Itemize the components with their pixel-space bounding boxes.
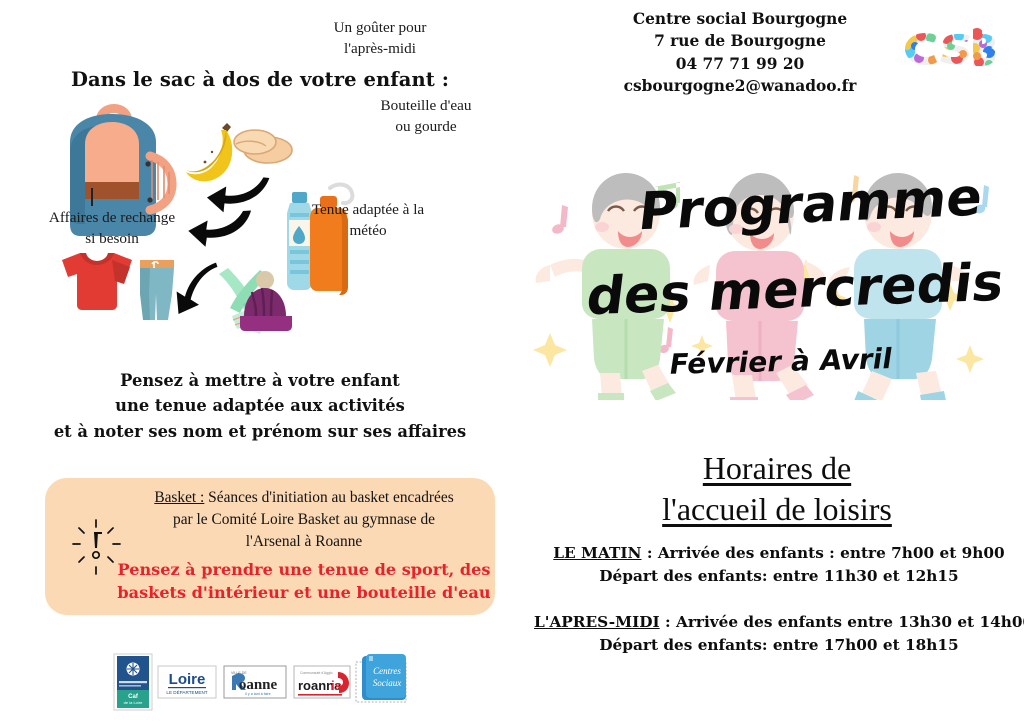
caption-snack: Un goûter pour l'après-midi xyxy=(300,18,460,59)
spare-clothes-icon xyxy=(62,253,174,320)
title-subtitle: Février à Avril xyxy=(667,342,895,381)
svg-text:oanne: oanne xyxy=(239,677,278,693)
svg-text:LE DÉPARTEMENT: LE DÉPARTEMENT xyxy=(166,689,207,695)
schedule-morning: LE MATIN : Arrivée des enfants : entre 7… xyxy=(534,542,1024,589)
contact-phone: 04 77 71 99 20 xyxy=(550,53,930,75)
logo-centres-sociaux: Centres Sociaux xyxy=(358,652,410,708)
svg-text:de la Loire: de la Loire xyxy=(124,700,143,705)
contact-block: Centre social Bourgogne 7 rue de Bourgog… xyxy=(550,8,930,97)
svg-text:Loire: Loire xyxy=(169,671,206,688)
basket-warning-text: Pensez à prendre une tenue de sport, des… xyxy=(111,558,497,605)
title-block: Programme des mercredis Février à Avril xyxy=(530,165,1024,400)
contact-address: 7 rue de Bourgogne xyxy=(550,30,930,52)
logo-roanne: VILLE DE oanne il y a tant à faire xyxy=(224,666,286,698)
beanie-icon xyxy=(240,271,292,331)
schedule-afternoon: L'APRES-MIDI : Arrivée des enfants entre… xyxy=(534,611,1024,658)
logo-roannais: Communauté d'Agglo roanna is xyxy=(294,666,350,698)
logo-caf-loire: Caf de la Loire xyxy=(114,654,152,710)
basket-info-text: Basket : Séances d'initiation au basket … xyxy=(123,487,485,553)
afternoon-label: L'APRES-MIDI xyxy=(534,613,660,631)
morning-departure: Départ des enfants: entre 11h30 et 12h15 xyxy=(534,565,1024,588)
snack-icon xyxy=(186,123,292,181)
contact-email: csbourgogne2@wanadoo.fr xyxy=(550,75,930,97)
brochure-page: Dans le sac à dos de votre enfant : xyxy=(0,0,1024,724)
advice-block: Pensez à mettre à votre enfant une tenue… xyxy=(0,368,520,444)
morning-label: LE MATIN xyxy=(553,544,641,562)
svg-text:Sociaux: Sociaux xyxy=(373,678,402,688)
csb-logo xyxy=(895,18,995,80)
left-panel: Dans le sac à dos de votre enfant : xyxy=(0,0,520,724)
caption-spare-clothes: Affaires de rechange si besoin xyxy=(12,208,212,249)
caption-bottle: Bouteille d'eau ou gourde xyxy=(356,96,496,137)
svg-text:Communauté d'Agglo: Communauté d'Agglo xyxy=(300,671,333,675)
contact-name: Centre social Bourgogne xyxy=(550,8,930,30)
logo-loire-departement: Loire LE DÉPARTEMENT xyxy=(158,666,216,698)
basket-info-box: Basket : Séances d'initiation au basket … xyxy=(45,478,495,615)
backpack-heading: Dans le sac à dos de votre enfant : xyxy=(0,68,520,91)
afternoon-departure: Départ des enfants: entre 17h00 et 18h15 xyxy=(534,634,1024,657)
caption-weather: Tenue adaptée à la météo xyxy=(288,200,448,241)
svg-text:il y a tant à faire: il y a tant à faire xyxy=(245,692,270,696)
schedule-title: Horaires de l'accueil de loisirs xyxy=(530,448,1024,530)
svg-text:Centres: Centres xyxy=(373,666,401,676)
right-panel: Centre social Bourgogne 7 rue de Bourgog… xyxy=(520,0,1024,724)
schedule-details: LE MATIN : Arrivée des enfants : entre 7… xyxy=(534,542,1024,679)
basket-label: Basket : xyxy=(154,489,204,506)
